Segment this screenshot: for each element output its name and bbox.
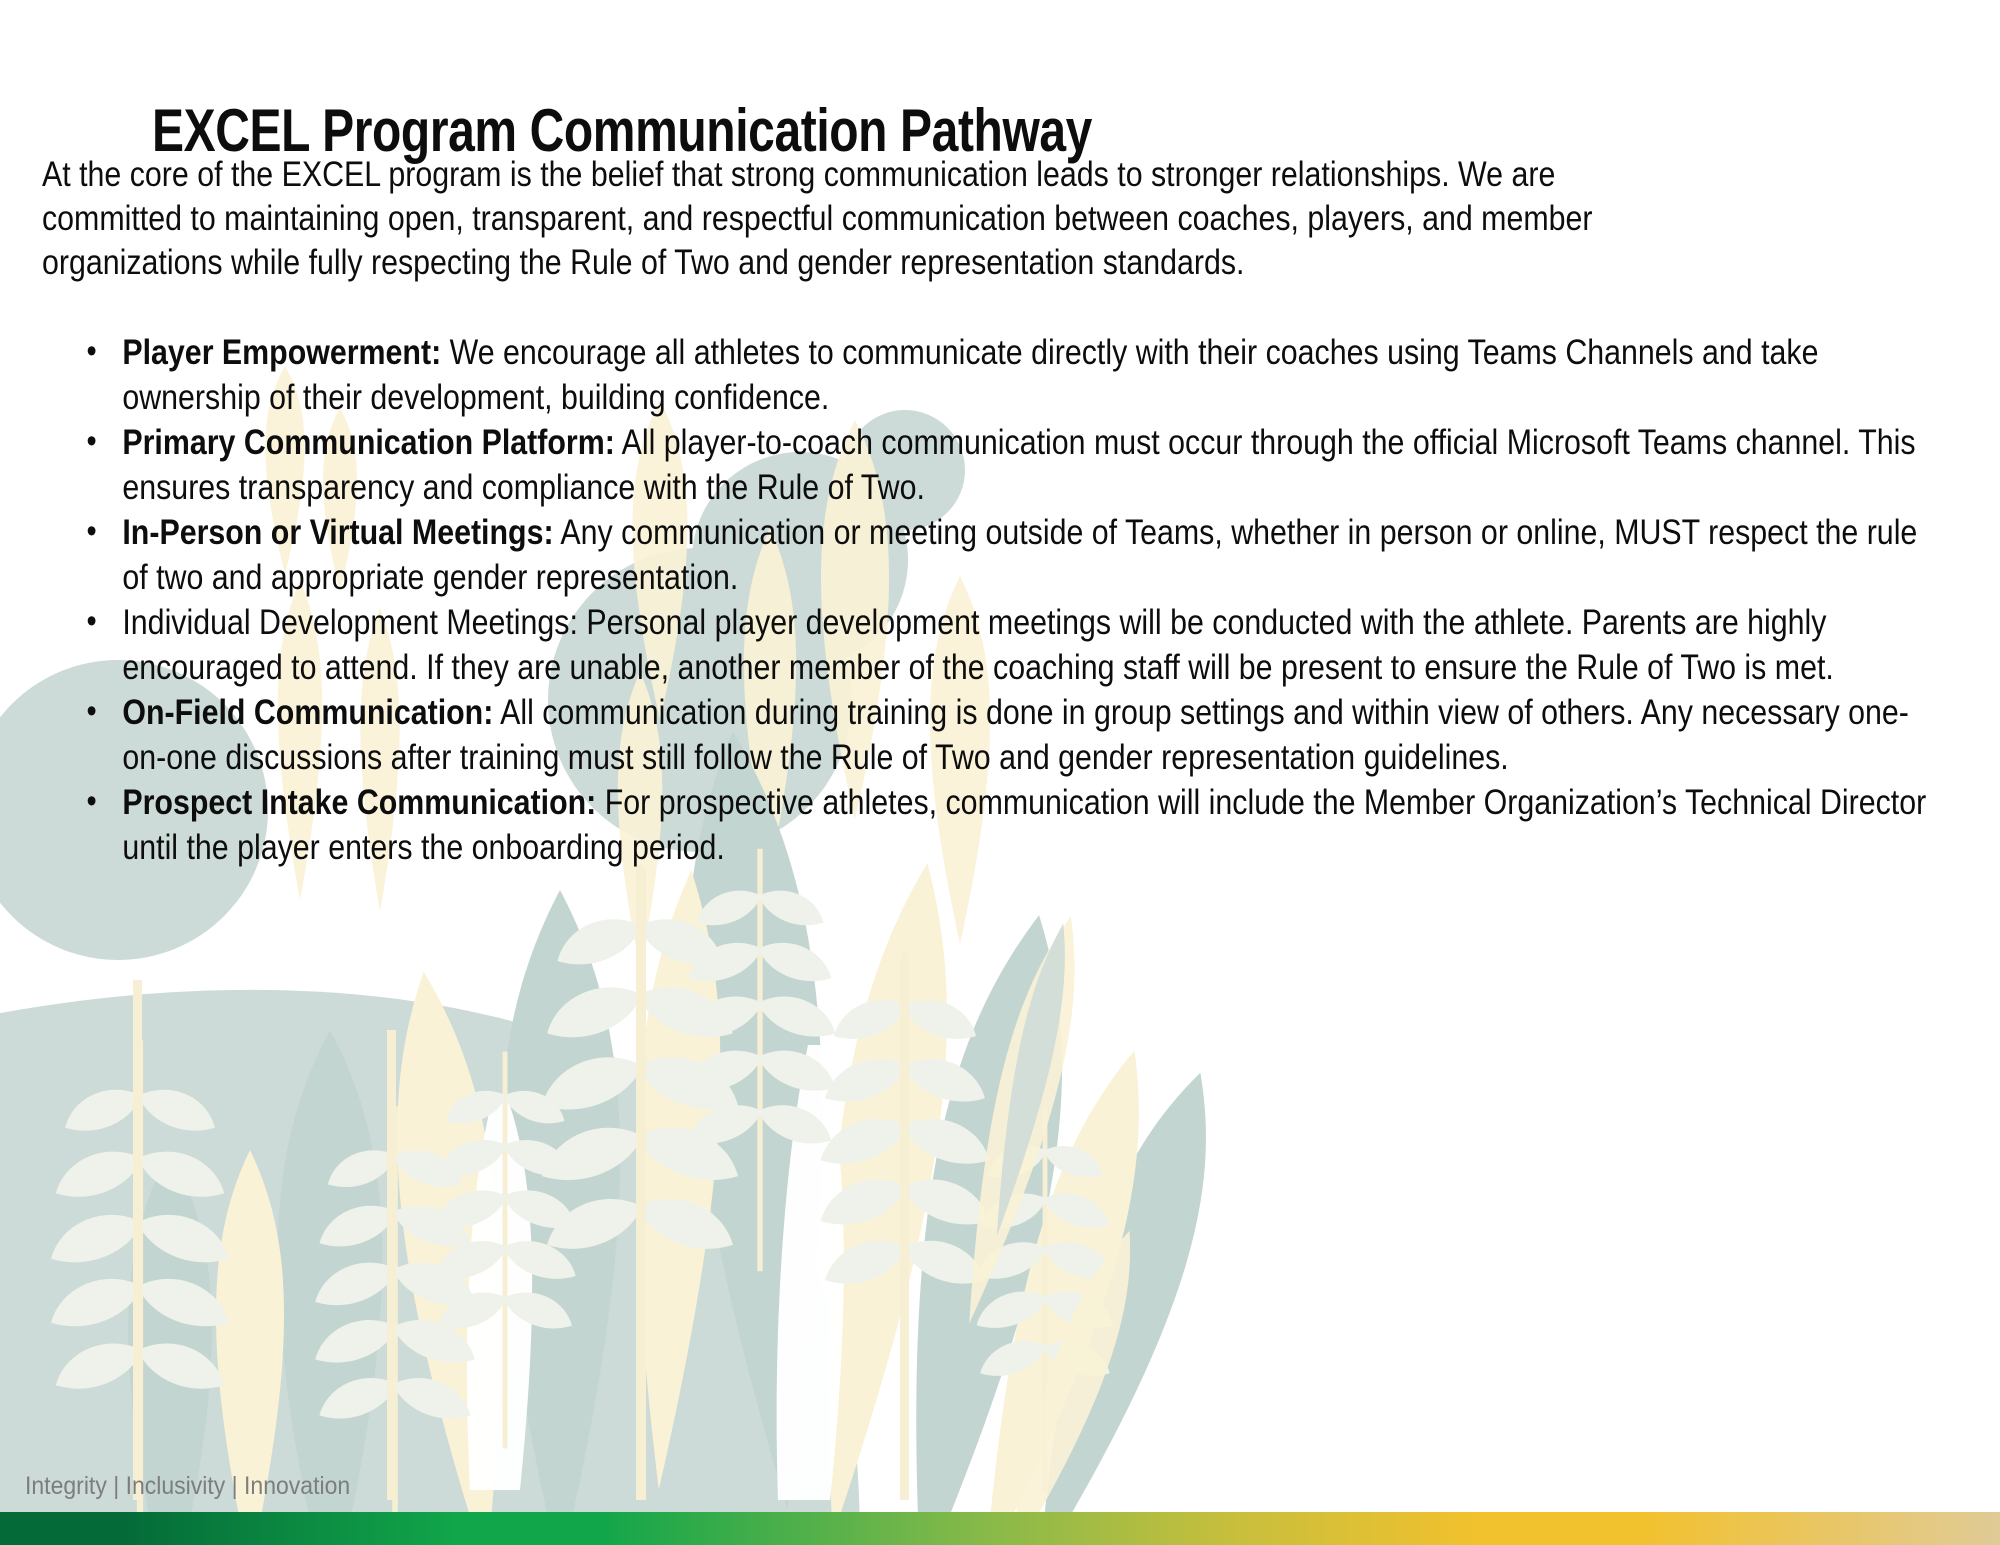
accent-gradient-bar xyxy=(0,1512,2000,1545)
list-item: In-Person or Virtual Meetings: Any commu… xyxy=(86,510,1950,600)
list-item: Primary Communication Platform: All play… xyxy=(86,420,1950,510)
list-item: On-Field Communication: All communicatio… xyxy=(86,690,1950,780)
bullet-lead: Primary Communication Platform: xyxy=(122,422,614,462)
slide-canvas: EXCEL Program Communication Pathway At t… xyxy=(0,0,2000,1545)
communication-bullet-list: Player Empowerment: We encourage all ath… xyxy=(42,330,1950,870)
intro-paragraph: At the core of the EXCEL program is the … xyxy=(42,152,1667,284)
bullet-lead: On-Field Communication: xyxy=(122,692,493,732)
list-item: Prospect Intake Communication: For prosp… xyxy=(86,780,1950,870)
list-item: Player Empowerment: We encourage all ath… xyxy=(86,330,1950,420)
footer-tagline: Integrity | Inclusivity | Innovation xyxy=(25,1471,350,1501)
slide-content: EXCEL Program Communication Pathway At t… xyxy=(0,0,2000,1545)
bullet-lead: In-Person or Virtual Meetings: xyxy=(122,512,553,552)
bullet-lead: Prospect Intake Communication: xyxy=(122,782,596,822)
list-item: Individual Development Meetings: Persona… xyxy=(86,600,1950,690)
bullet-lead: Individual Development Meetings: xyxy=(122,602,578,642)
bullet-lead: Player Empowerment: xyxy=(122,332,441,372)
